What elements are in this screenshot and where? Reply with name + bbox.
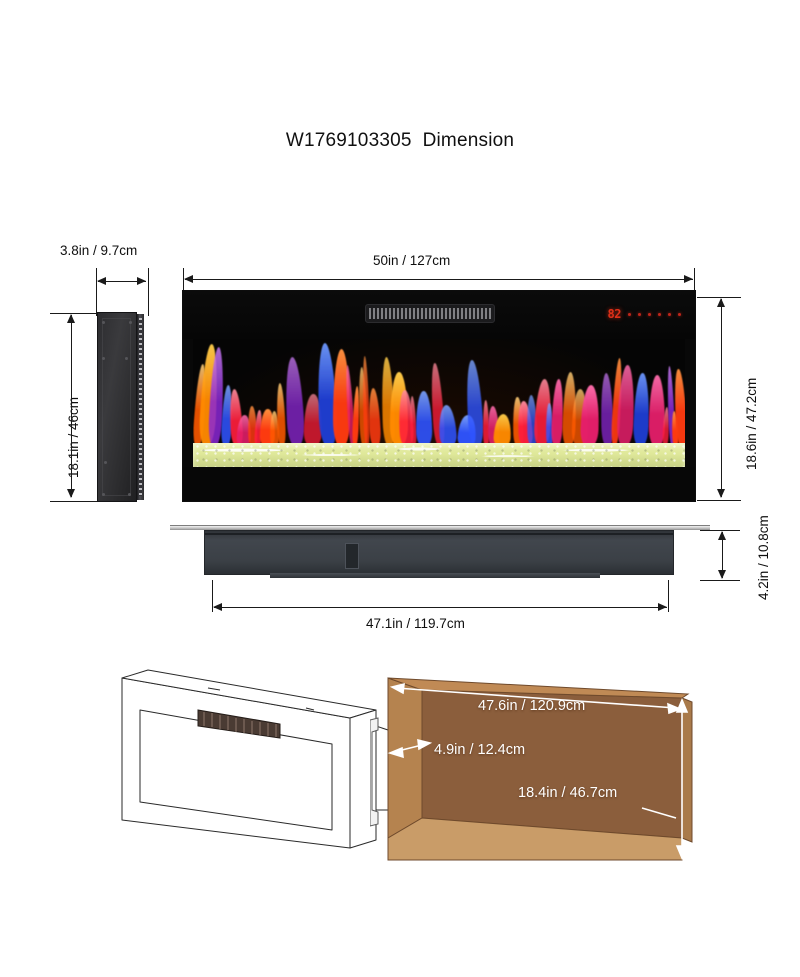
led-indicator-dot [678, 313, 681, 316]
side-screw [102, 321, 105, 324]
arrow-side-depth-left [97, 277, 106, 285]
flame-element [438, 405, 458, 448]
crystal-speckle-overlay [193, 443, 685, 467]
flame-element [368, 387, 382, 447]
recess-height-label: 18.4in / 46.7cm [518, 785, 617, 801]
dim-line-front-height [721, 299, 722, 497]
dim-label-overall-width: 50in / 127cm [373, 253, 450, 268]
side-screw [128, 493, 131, 496]
wall-recess-diagram: 47.6in / 120.9cm 4.9in / 12.4cm 18.4in /… [370, 660, 710, 870]
ext-line-side-height-bottom [50, 501, 98, 502]
led-indicator-dot [648, 313, 651, 316]
flame-element [633, 373, 650, 448]
arrow-top-width-right [658, 603, 667, 611]
dim-line-side-height [71, 315, 72, 497]
dim-label-side-height: 18.1in / 46cm [66, 397, 81, 478]
top-view-foot-rail [270, 573, 600, 578]
side-view-glass-edge [139, 318, 142, 496]
side-screw [104, 461, 107, 464]
arrow-front-height-top [717, 298, 725, 307]
arrow-width-left [184, 275, 193, 283]
led-display-reading: 82 [608, 307, 621, 321]
product-front-view: 82 [182, 290, 696, 502]
dim-label-top-width: 47.1in / 119.7cm [366, 616, 465, 631]
dim-line-overall-width [185, 279, 693, 280]
led-control-panel: 82 [608, 307, 681, 321]
led-indicator-dot [668, 313, 671, 316]
dim-label-top-depth: 4.2in / 10.8cm [756, 515, 771, 600]
ext-line-side-depth-right [148, 268, 149, 316]
flame-element [284, 357, 306, 447]
led-indicator-dot [638, 313, 641, 316]
dim-label-side-depth: 3.8in / 9.7cm [60, 243, 137, 258]
arrow-side-depth-right [137, 277, 146, 285]
arrow-width-right [684, 275, 693, 283]
dimension-diagram-page: W1769103305 Dimension 3.8in / 9.7cm 50in… [0, 0, 800, 977]
led-indicator-dot [628, 313, 631, 316]
arrow-top-depth-bottom [718, 570, 726, 579]
heater-vent-grille [365, 304, 495, 323]
side-screw [129, 321, 132, 324]
arrow-side-height-bottom [67, 489, 75, 498]
arrow-top-width-left [213, 603, 222, 611]
product-top-view [170, 525, 710, 587]
arrow-side-height-top [67, 314, 75, 323]
product-isometric-line-drawing [100, 660, 390, 860]
flame-display-area [193, 339, 685, 467]
arrow-top-depth-top [718, 531, 726, 540]
recess-width-label: 47.6in / 120.9cm [478, 698, 585, 714]
front-bottom-bezel [183, 467, 695, 501]
led-indicator-dot [658, 313, 661, 316]
arrow-front-height-bottom [717, 489, 725, 498]
top-view-body [204, 530, 674, 575]
recess-depth-label: 4.9in / 12.4cm [434, 742, 525, 758]
dim-line-top-width [214, 607, 667, 608]
side-screw [125, 357, 128, 360]
side-screw [102, 493, 105, 496]
side-view-body [97, 312, 137, 502]
side-screw [102, 357, 105, 360]
product-side-view [95, 312, 147, 502]
page-title: W1769103305 Dimension [0, 130, 800, 152]
ext-line-side-depth-left [96, 268, 97, 316]
top-view-bracket [345, 543, 359, 569]
flame-element [416, 391, 432, 447]
dim-label-front-height: 18.6in / 47.2cm [744, 378, 759, 470]
ext-line-front-height-bottom [697, 500, 741, 501]
